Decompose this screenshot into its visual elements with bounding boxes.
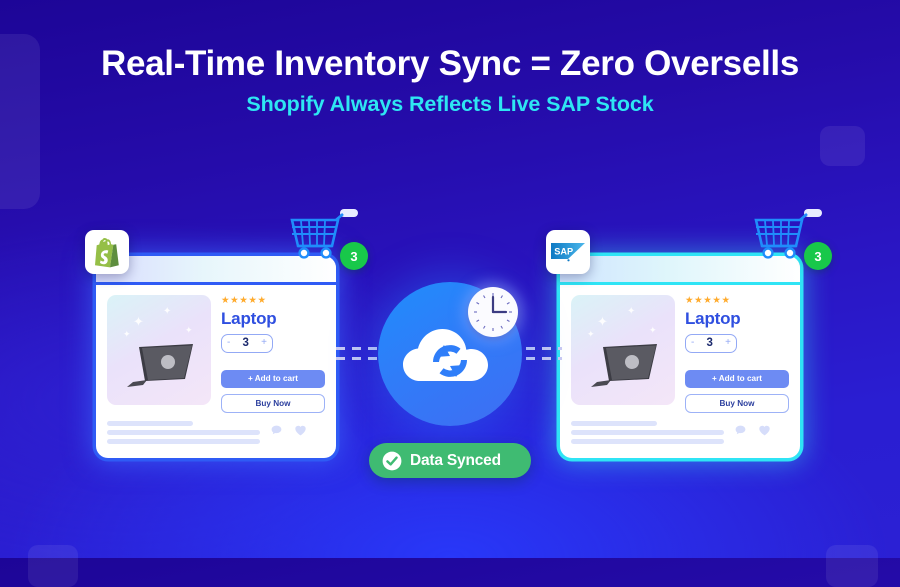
heart-icon[interactable]	[758, 424, 771, 437]
skeleton-line	[107, 430, 260, 435]
cart-widget-left[interactable]: 3	[286, 206, 366, 268]
increment-button[interactable]: +	[261, 338, 267, 348]
sparkle-icon: ✦	[163, 307, 171, 317]
sparkle-icon: ✦	[597, 315, 608, 328]
skeleton-line	[571, 430, 724, 435]
product-card-body-left: ✦ ✦ ✦ ✦ ★★★★★ Laptop -	[96, 285, 336, 413]
footer-icon-group-left	[270, 421, 325, 437]
buy-now-button[interactable]: Buy Now	[221, 394, 325, 413]
clock-icon	[468, 287, 518, 337]
sap-erp-card[interactable]: ✦ ✦ ✦ ✦ ★★★★★ Laptop -	[560, 256, 800, 458]
laptop-illustration-icon	[581, 335, 669, 390]
rating-stars: ★★★★★	[221, 296, 325, 306]
cart-badge-count: 3	[804, 242, 832, 270]
browser-window-right: ✦ ✦ ✦ ✦ ★★★★★ Laptop -	[560, 256, 800, 458]
quantity-value: 3	[243, 337, 249, 349]
product-name: Laptop	[221, 309, 325, 329]
comment-bubble-icon[interactable]	[270, 424, 283, 437]
skeleton-line	[107, 439, 260, 444]
shopify-logo-tile	[85, 230, 129, 274]
product-card-footer-right	[560, 413, 800, 458]
cart-badge-count: 3	[340, 242, 368, 270]
skeleton-text-block	[107, 421, 260, 448]
illustration-scene: ✦ ✦ ✦ ✦ ★★★★★ Laptop -	[0, 0, 900, 558]
comment-bubble-icon[interactable]	[734, 424, 747, 437]
decrement-button[interactable]: -	[691, 338, 694, 348]
sparkle-icon: ✦	[185, 326, 193, 335]
footer-icon-group-right	[734, 421, 789, 437]
product-name: Laptop	[685, 309, 789, 329]
increment-button[interactable]: +	[725, 338, 731, 348]
skeleton-line	[107, 421, 193, 426]
product-image-left: ✦ ✦ ✦ ✦	[107, 295, 211, 405]
decrement-button[interactable]: -	[227, 338, 230, 348]
quantity-stepper-right[interactable]: - 3 +	[685, 334, 737, 353]
sap-logo-icon: SAP	[551, 242, 585, 262]
status-badge: Data Synced	[369, 443, 531, 478]
add-to-cart-button[interactable]: + Add to cart	[685, 370, 789, 388]
laptop-illustration-icon	[117, 335, 205, 390]
sparkle-icon: ✦	[133, 315, 144, 328]
rating-stars: ★★★★★	[685, 296, 789, 306]
product-info-right: ★★★★★ Laptop - 3 + + Add to cart Buy Now	[685, 295, 789, 413]
add-to-cart-button[interactable]: + Add to cart	[221, 370, 325, 388]
shopify-logo-icon	[92, 236, 122, 268]
skeleton-text-block	[571, 421, 724, 448]
quantity-value: 3	[707, 337, 713, 349]
clock-widget	[468, 287, 518, 337]
sparkle-icon: ✦	[627, 307, 635, 317]
sparkle-icon: ✦	[649, 326, 657, 335]
cart-widget-right[interactable]: 3	[750, 206, 830, 268]
skeleton-line	[571, 439, 724, 444]
shopify-storefront-card[interactable]: ✦ ✦ ✦ ✦ ★★★★★ Laptop -	[96, 256, 336, 458]
product-image-right: ✦ ✦ ✦ ✦	[571, 295, 675, 405]
product-info-left: ★★★★★ Laptop - 3 + + Add to cart Buy Now	[221, 295, 325, 413]
product-card-body-right: ✦ ✦ ✦ ✦ ★★★★★ Laptop -	[560, 285, 800, 413]
status-badge-label: Data Synced	[410, 452, 501, 470]
sap-logo-tile: SAP	[546, 230, 590, 274]
product-card-footer-left	[96, 413, 336, 458]
check-circle-icon	[382, 451, 402, 471]
svg-text:SAP: SAP	[554, 247, 573, 257]
browser-window-left: ✦ ✦ ✦ ✦ ★★★★★ Laptop -	[96, 256, 336, 458]
quantity-stepper-left[interactable]: - 3 +	[221, 334, 273, 353]
heart-icon[interactable]	[294, 424, 307, 437]
buy-now-button[interactable]: Buy Now	[685, 394, 789, 413]
skeleton-line	[571, 421, 657, 426]
